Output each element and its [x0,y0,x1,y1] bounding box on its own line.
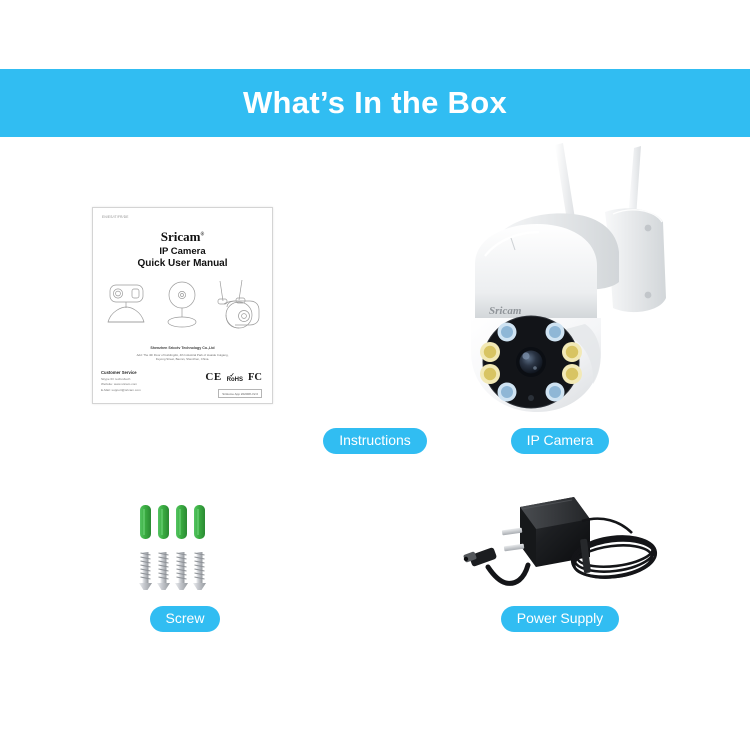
output-cable [488,565,528,583]
dc-barrel-connector [463,547,497,567]
led-ir-top-right [546,323,565,342]
power-supply-label-row: Power Supply [380,606,740,632]
page-title: What’s In the Box [243,85,507,121]
manual-brand-name: Sricam [161,229,201,244]
instructions-manual-cover: EN/ES/IT/FR/DE Sricam® IP Camera Quick U… [92,207,273,404]
wall-anchor-2 [158,505,169,539]
manual-address-line2: Fuyong Street, Bao'an, Shenzhen, China. [104,357,261,361]
ip-camera-photo: Sricam [445,140,695,425]
manual-app-version: SriHome App 202008-V2.0 [218,389,262,398]
manual-company-name: Shenzhen Sricctv Technology Co.,Ltd [98,346,267,350]
screw-3 [175,552,188,590]
power-adapter-photo [462,485,677,595]
ptz-dome-camera-illustration [218,280,259,328]
wall-anchor-4 [194,505,205,539]
badge-ip-camera: IP Camera [511,428,610,454]
light-sensor-icon [528,395,534,401]
camera-lens [516,347,546,377]
rohs-check-icon: ✓ [230,372,235,379]
manual-language-codes: EN/ES/IT/FR/DE [102,215,129,219]
screws-and-anchors-photo [128,495,248,595]
bullet-camera-illustration [108,285,144,322]
wall-anchor-1 [140,505,151,539]
led-white-right-upper [562,342,582,362]
manual-title-line2: Quick User Manual [98,258,267,269]
fcc-mark-icon: FC [248,372,262,383]
manual-cs-website: Website: www.sricam.com [101,382,141,387]
manual-brand: Sricam® [98,229,267,245]
screw-4 [193,552,206,590]
screw-group [139,552,206,590]
wall-anchor-group [140,505,205,539]
screw-1 [139,552,152,590]
badge-screw: Screw [150,606,221,632]
manual-title-line1: IP Camera [98,246,267,257]
manual-cs-email: E-Mail: support@sricam.com [101,388,141,393]
ip-camera-label-row: IP Camera [380,428,740,454]
led-white-left-upper [480,342,500,362]
led-ir-bottom-left [498,383,517,402]
rohs-mark-icon: ✓ RoHS [227,377,243,383]
led-ir-top-left [498,323,517,342]
badge-power-supply: Power Supply [501,606,619,632]
manual-customer-service-title: Customer Service [101,370,137,375]
wall-anchor-3 [176,505,187,539]
manual-certification-marks: CE ✓ RoHS FC [205,371,262,383]
header-banner: What’s In the Box [0,69,750,137]
camera-brand-text: Sricam [489,305,522,317]
manual-brand-mark: ® [200,233,204,238]
led-white-right-lower [562,364,582,384]
indoor-round-camera-illustration [168,282,196,327]
screw-label-row: Screw [0,606,370,632]
manual-camera-illustrations [102,277,265,339]
manual-address: Add: The 4th Floor of building4A, 4th In… [104,353,261,362]
led-ir-bottom-right [546,383,565,402]
ce-mark-icon: CE [205,371,221,383]
led-white-left-lower [480,364,500,384]
screw-2 [157,552,170,590]
manual-customer-service-lines: Skype ID: tecfun/tech Website: www.srica… [101,377,141,393]
